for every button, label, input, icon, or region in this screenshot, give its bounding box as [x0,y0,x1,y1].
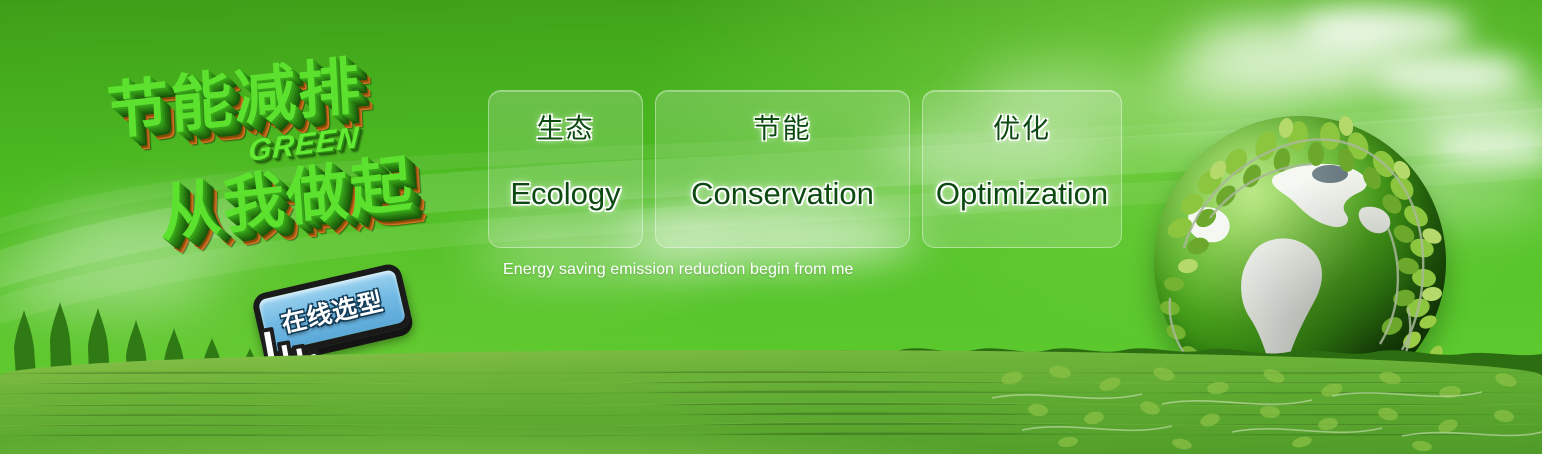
feature-card-conservation[interactable]: 节能 Conservation [655,90,910,248]
feature-card-optimization-cn: 优化 [993,115,1051,145]
grass-meadow [0,350,1542,454]
green-energy-banner: 节能减排 从我做起 GREEN 在线选型 生态 Ecology 节能 Conse… [0,0,1542,454]
online-selection-button[interactable]: 在线选型 [251,262,414,361]
feature-cards: 生态 Ecology 节能 Conservation 优化 Optimizati… [488,90,1122,248]
feature-card-optimization-en: Optimization [936,176,1108,212]
feature-card-ecology-en: Ecology [510,176,620,212]
feature-card-ecology-cn: 生态 [537,115,595,145]
cloud-icon [1160,46,1420,98]
feature-card-optimization[interactable]: 优化 Optimization [922,90,1122,248]
cloud-icon [1376,52,1526,96]
feature-card-conservation-cn: 节能 [754,115,812,145]
online-selection-button-label: 在线选型 [277,282,386,340]
logo-3d-headline: 节能减排 从我做起 GREEN [96,28,488,268]
feature-card-conservation-en: Conservation [691,176,874,212]
cloud-icon [1300,6,1470,52]
tagline: Energy saving emission reduction begin f… [503,261,854,279]
online-selection-button-wrap[interactable]: 在线选型 [251,262,414,361]
feature-card-ecology[interactable]: 生态 Ecology [488,90,643,248]
cloud-icon [1190,18,1400,76]
